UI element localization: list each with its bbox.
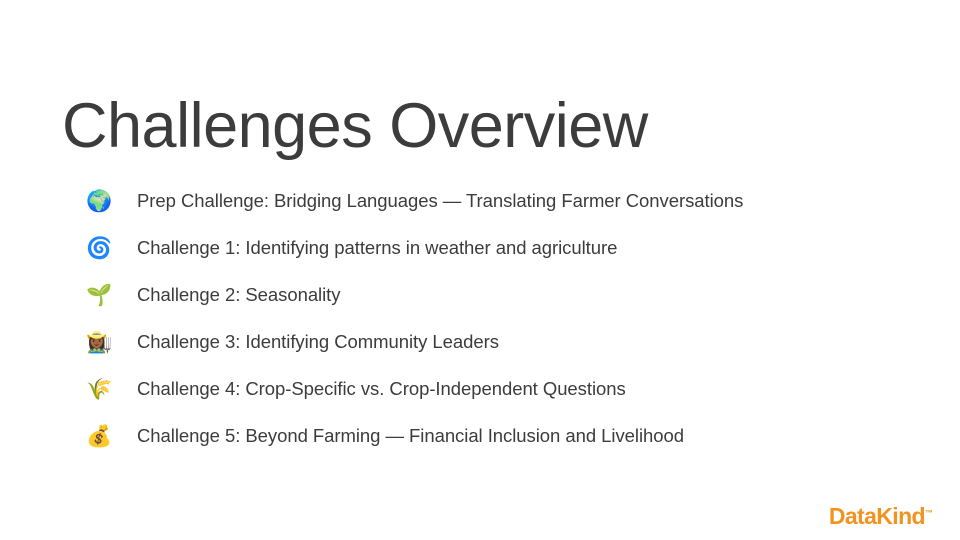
list-item: 👩🏾‍🌾 Challenge 3: Identifying Community … [86,327,916,357]
trademark-icon: ™ [925,508,933,517]
list-item: 🌍 Prep Challenge: Bridging Languages — T… [86,186,916,216]
list-item-label: Prep Challenge: Bridging Languages — Tra… [137,186,743,216]
list-item: 💰 Challenge 5: Beyond Farming — Financia… [86,421,916,451]
list-item: 🌾 Challenge 4: Crop-Specific vs. Crop-In… [86,374,916,404]
globe-showing-europe-africa-icon: 🌍 [86,186,116,216]
woman-farmer-icon: 👩🏾‍🌾 [86,327,116,357]
datakind-logo: DataKind™ [829,505,933,528]
datakind-logo-text: DataKind [829,503,925,529]
cyclone-icon: 🌀 [86,233,116,263]
money-bag-icon: 💰 [86,421,116,451]
list-item: 🌱 Challenge 2: Seasonality [86,280,916,310]
list-item-label: Challenge 4: Crop-Specific vs. Crop-Inde… [137,374,626,404]
list-item-label: Challenge 5: Beyond Farming — Financial … [137,421,684,451]
challenge-list: 🌍 Prep Challenge: Bridging Languages — T… [86,186,916,468]
presentation-slide: Challenges Overview 🌍 Prep Challenge: Br… [0,0,960,540]
list-item-label: Challenge 1: Identifying patterns in wea… [137,233,617,263]
list-item-label: Challenge 2: Seasonality [137,280,340,310]
page-title: Challenges Overview [62,90,648,162]
seedling-icon: 🌱 [86,280,116,310]
list-item: 🌀 Challenge 1: Identifying patterns in w… [86,233,916,263]
list-item-label: Challenge 3: Identifying Community Leade… [137,327,499,357]
sheaf-of-rice-icon: 🌾 [86,374,116,404]
